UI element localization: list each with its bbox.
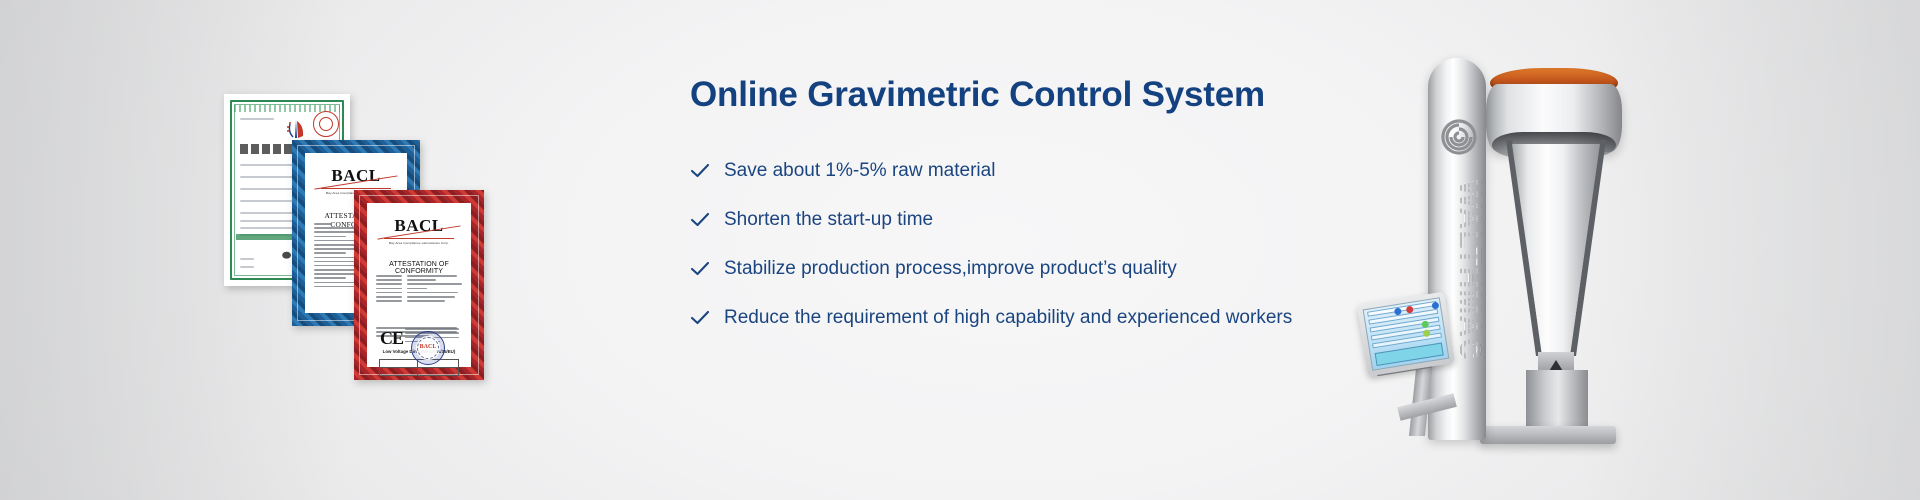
official-seal-stamp [313,111,339,137]
feature-list: Save about 1%-5% raw material Shorten th… [690,151,1310,338]
doc-value [407,288,428,290]
control-panel-screen[interactable] [1363,297,1450,370]
screen-indicator [1431,301,1439,309]
certificate-page: BACL Bay Area Compliance Laboratories Co… [367,203,471,367]
doc-value [407,300,445,302]
doc-label [376,296,402,298]
banner-text-block: Online Gravimetric Control System Save a… [690,76,1310,347]
doc-value [407,275,457,277]
certificates-group: BACL Bay Area Compliance Laboratories Co… [218,86,508,386]
check-icon [690,210,710,230]
bacl-underline [384,238,454,239]
doc-label [376,283,402,285]
doc-line [314,236,346,238]
bacl-underline [321,188,391,189]
list-item: Save about 1%-5% raw material [690,151,1310,191]
doc-line [405,328,459,330]
touchscreen-control-panel[interactable] [1357,292,1455,377]
feature-text: Stabilize production process,improve pro… [724,259,1177,278]
doc-label [376,279,402,281]
check-icon [690,161,710,181]
check-icon [690,308,710,328]
list-item: Reduce the requirement of high capabilit… [690,298,1310,338]
feature-text: Reduce the requirement of high capabilit… [724,308,1292,327]
doc-value [407,279,436,281]
bacl-logo-subtitle: Bay Area Compliance Laboratories Corp. [382,241,456,246]
doc-label [376,275,402,277]
doc-line [314,252,346,254]
doc-line [314,223,332,225]
list-item: Shorten the start-up time [690,200,1310,240]
doc-value [407,296,455,298]
doc-line [240,266,254,268]
machine-base-box [1526,370,1588,432]
bacl-logo: BACL Bay Area Compliance Laboratories Co… [382,217,456,246]
doc-value [407,292,459,294]
feature-text: Shorten the start-up time [724,210,933,229]
machine-base-plate [1480,426,1616,444]
product-machine-image: WALTHMAC [1340,40,1670,460]
spiral-logo-icon [1440,118,1478,156]
doc-line [240,258,254,260]
feature-text: Save about 1%-5% raw material [724,161,995,180]
doc-label [376,288,402,290]
certificate-heading: ATTESTATION OF CONFORMITY [367,261,471,275]
list-item: Stabilize production process,improve pro… [690,249,1310,289]
doc-line [314,277,346,279]
doc-line [240,118,274,120]
doc-label [376,300,402,302]
page-title: Online Gravimetric Control System [690,76,1310,115]
bacl-round-seal: BACL [411,331,445,365]
patent-emblem-icon [284,118,310,142]
product-banner: BACL Bay Area Compliance Laboratories Co… [0,0,1920,500]
doc-value [407,283,462,285]
check-icon [690,259,710,279]
certificate-fields [376,275,462,304]
seal-label: BACL [412,344,444,350]
doc-line [240,176,298,178]
certificate-bacl-red: BACL Bay Area Compliance Laboratories Co… [354,190,484,380]
ce-mark-icon: CE [380,329,403,347]
doc-label [376,292,402,294]
